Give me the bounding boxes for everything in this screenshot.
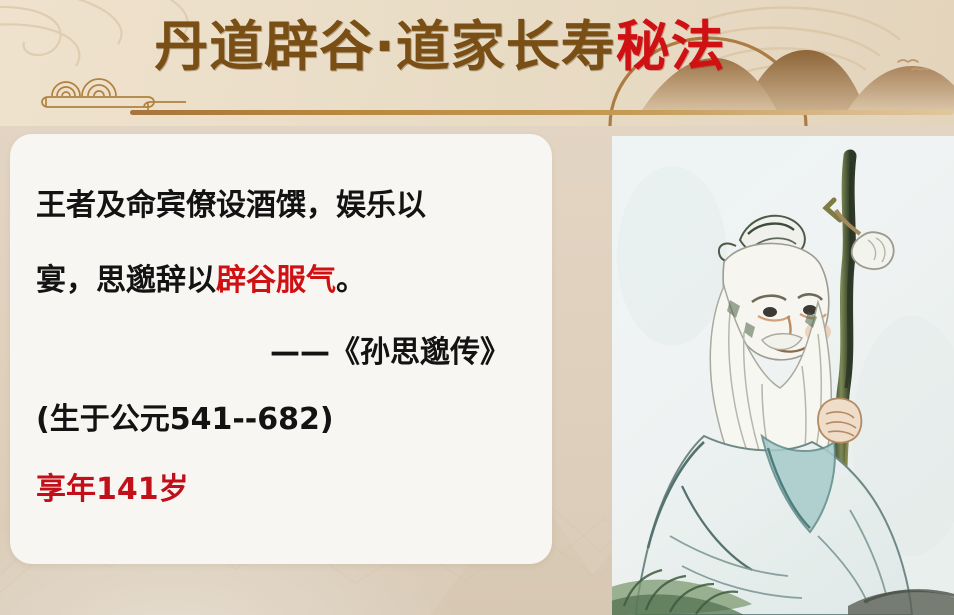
sage-portrait-illustration	[612, 136, 954, 615]
quote-line-1: 王者及命宾僚设酒馔，娱乐以	[36, 188, 426, 223]
quote-line-2-suffix: 。	[336, 263, 366, 298]
birth-year-note: (生于公元541--682)	[36, 394, 526, 446]
quote-card: 王者及命宾僚设酒馔，娱乐以 宴，思邈辞以辟谷服气。 ——《孙思邈传》 (生于公元…	[10, 134, 552, 564]
sage-portrait-image	[612, 136, 954, 615]
header-horizontal-rule	[130, 110, 954, 115]
page-title: 丹道辟谷·道家长寿秘法	[0, 14, 880, 80]
quote-highlight: 辟谷服气	[216, 263, 336, 298]
page-title-accent: 秘法	[616, 15, 726, 78]
quote-text: 王者及命宾僚设酒馔，娱乐以 宴，思邈辞以辟谷服气。	[36, 168, 526, 318]
hand	[818, 398, 861, 442]
page-title-main: 丹道辟谷·道家长寿	[154, 15, 616, 78]
lifespan-note: 享年141岁	[36, 466, 526, 514]
quote-attribution: ——《孙思邈传》	[36, 324, 526, 382]
quote-line-2-prefix: 宴，思邈辞以	[36, 263, 216, 298]
slide-canvas: 丹道辟谷·道家长寿秘法 王者及命宾僚设酒馔，娱乐以 宴，思邈辞以辟谷服气。 ——…	[0, 0, 954, 615]
header-band: 丹道辟谷·道家长寿秘法	[0, 0, 954, 126]
